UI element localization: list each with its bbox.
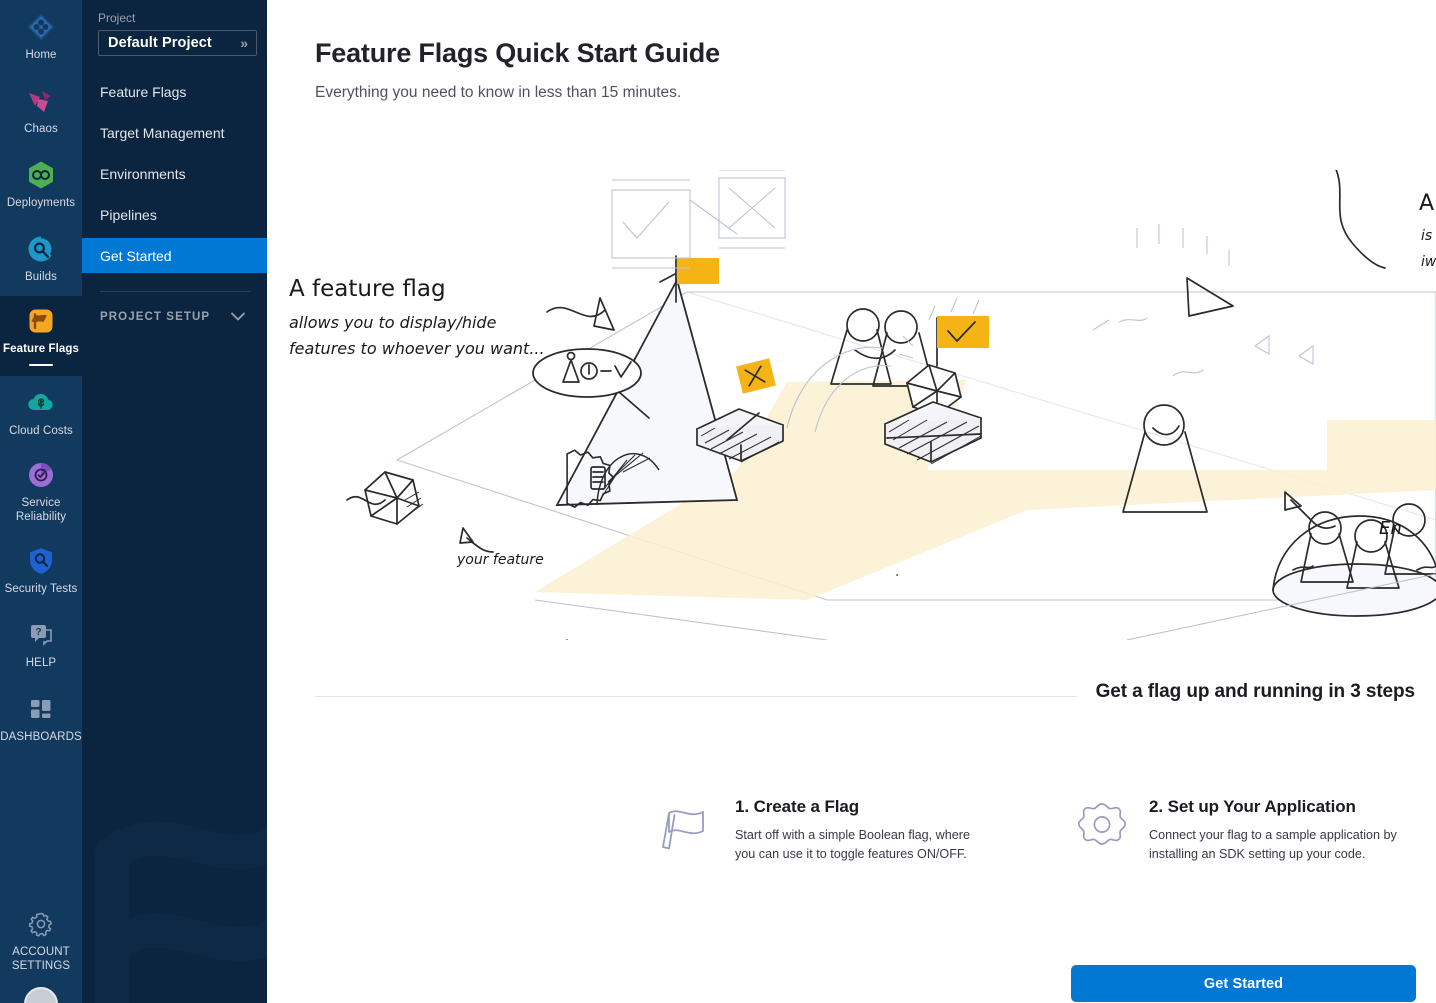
- svg-text:En: En: [1379, 518, 1402, 539]
- modnav-label: Home: [25, 48, 56, 62]
- project-nav: Project Default Project » Feature Flags …: [82, 0, 267, 1003]
- modnav-item-home[interactable]: Home: [0, 0, 82, 74]
- step-description: Start off with a simple Boolean flag, wh…: [735, 826, 993, 864]
- modnav-item-service-reliability[interactable]: Service Reliability: [0, 450, 82, 534]
- hero-illustration: .ln{fill:none;stroke:#2B2B2B;stroke-widt…: [267, 170, 1436, 640]
- gear-outline-icon: [1073, 799, 1131, 857]
- modnav-item-deployments[interactable]: Deployments: [0, 148, 82, 222]
- flag-outline-icon: [659, 799, 717, 857]
- project-nav-list: Feature Flags Target Management Environm…: [82, 74, 267, 273]
- steps-row: 1. Create a Flag Start off with a simple…: [267, 795, 1436, 905]
- svg-text:is: is: [1421, 228, 1432, 244]
- project-label: Project: [82, 10, 267, 30]
- project-selector[interactable]: Default Project »: [98, 30, 257, 56]
- help-icon: ?: [26, 620, 56, 650]
- project-setup-label: PROJECT SETUP: [100, 311, 210, 323]
- page-title: Feature Flags Quick Start Guide: [315, 38, 720, 69]
- svg-text:features to whoever you want..: features to whoever you want...: [289, 339, 545, 358]
- dashboards-icon: [26, 694, 56, 724]
- subnav-item-feature-flags[interactable]: Feature Flags: [82, 74, 267, 109]
- service-reliability-icon: [26, 460, 56, 490]
- chevron-double-right-icon: »: [240, 35, 248, 51]
- home-diamond-icon: [26, 12, 56, 42]
- subnav-item-get-started[interactable]: Get Started: [82, 238, 267, 273]
- modnav-label: Builds: [25, 270, 57, 284]
- step-text: 2. Set up Your Application Connect your …: [1149, 795, 1407, 864]
- chevron-down-icon: [231, 308, 245, 326]
- svg-text:?: ?: [35, 627, 41, 638]
- subnav-item-pipelines[interactable]: Pipelines: [82, 197, 267, 232]
- step-text: 1. Create a Flag Start off with a simple…: [735, 795, 993, 864]
- modnav-item-chaos[interactable]: Chaos: [0, 74, 82, 148]
- modnav-label: DASHBOARDS: [0, 730, 82, 744]
- deployments-icon: [26, 160, 56, 190]
- modnav-item-feature-flags[interactable]: Feature Flags: [0, 296, 82, 376]
- modnav-label: Feature Flags: [3, 342, 79, 356]
- modnav-item-dashboards[interactable]: DASHBOARDS: [0, 682, 82, 756]
- cloud-costs-icon: [26, 388, 56, 418]
- modnav-item-security-tests[interactable]: Security Tests: [0, 534, 82, 608]
- builds-icon: [26, 234, 56, 264]
- step-title: 1. Create a Flag: [735, 797, 993, 817]
- svg-text:iw: iw: [1421, 254, 1436, 270]
- modnav-label: HELP: [26, 656, 56, 670]
- security-tests-icon: [26, 546, 56, 576]
- step-create-a-flag[interactable]: 1. Create a Flag Start off with a simple…: [659, 795, 999, 864]
- app-root: Home Chaos Deployments: [0, 0, 1436, 1003]
- svg-text:A: A: [1419, 191, 1434, 216]
- modnav-item-help[interactable]: ? HELP: [0, 608, 82, 682]
- modnav-label: Chaos: [24, 122, 58, 136]
- gear-icon: [26, 909, 56, 939]
- subnav-item-target-management[interactable]: Target Management: [82, 115, 267, 150]
- main-content: Feature Flags Quick Start Guide Everythi…: [267, 0, 1436, 1003]
- steps-divider: [315, 696, 1077, 697]
- project-name: Default Project: [108, 35, 212, 51]
- flag-watermark-icon: [82, 743, 267, 1003]
- modnav-label: ACCOUNT SETTINGS: [2, 945, 80, 973]
- modnav-label: Deployments: [7, 196, 75, 210]
- step-set-up-your-application[interactable]: 2. Set up Your Application Connect your …: [1073, 795, 1413, 864]
- modnav-label: Security Tests: [5, 582, 78, 596]
- modnav-item-builds[interactable]: Builds: [0, 222, 82, 296]
- divider: [100, 291, 251, 292]
- modnav-item-account-settings[interactable]: ACCOUNT SETTINGS: [0, 899, 82, 983]
- step-title: 2. Set up Your Application: [1149, 797, 1407, 817]
- page-subtitle: Everything you need to know in less than…: [315, 84, 681, 102]
- step-description: Connect your flag to a sample applicatio…: [1149, 826, 1407, 864]
- svg-text:A feature flag: A feature flag: [289, 276, 446, 302]
- modnav-label: Cloud Costs: [9, 424, 73, 438]
- feature-flags-icon: [26, 306, 56, 336]
- get-started-button[interactable]: Get Started: [1071, 965, 1416, 1002]
- subnav-item-environments[interactable]: Environments: [82, 156, 267, 191]
- steps-heading: Get a flag up and running in 3 steps: [1096, 681, 1415, 703]
- modnav-label: Service Reliability: [2, 496, 80, 524]
- module-nav: Home Chaos Deployments: [0, 0, 82, 1003]
- avatar[interactable]: [24, 987, 58, 1003]
- modnav-item-cloud-costs[interactable]: Cloud Costs: [0, 376, 82, 450]
- project-setup-section[interactable]: PROJECT SETUP: [82, 298, 267, 336]
- svg-text:allows you to display/hide: allows you to display/hide: [289, 313, 497, 332]
- active-underline: [29, 364, 53, 366]
- chaos-icon: [26, 86, 56, 116]
- svg-text:your feature: your feature: [456, 552, 544, 568]
